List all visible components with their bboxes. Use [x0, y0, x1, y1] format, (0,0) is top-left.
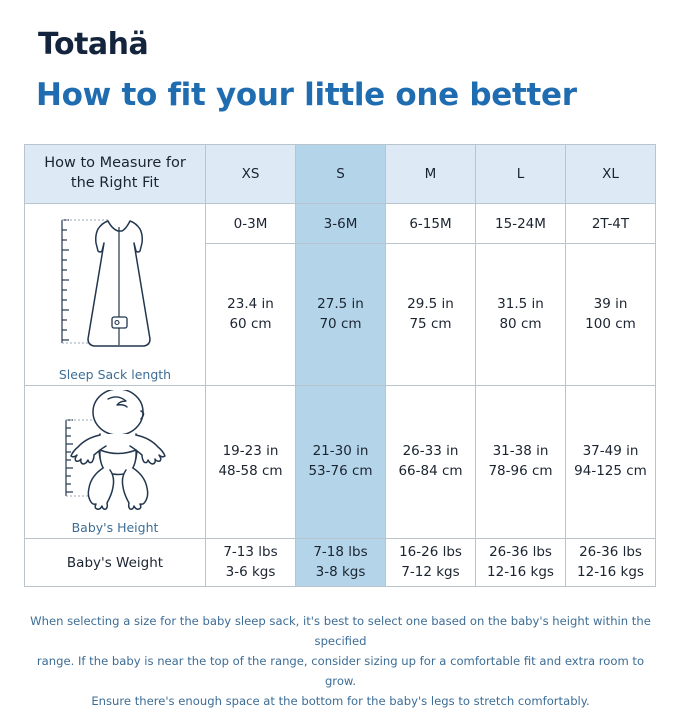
weight-xl-lbs: 26-36 lbs [566, 543, 655, 563]
weight-l: 26-36 lbs 12-16 kgs [476, 539, 566, 587]
size-table-container: How to Measure for the Right Fit XS S M … [24, 144, 655, 587]
height-s-in: 21-30 in [296, 442, 385, 462]
baby-illustration-icon [40, 390, 190, 516]
weight-s: 7-18 lbs 3-8 kgs [296, 539, 386, 587]
sizing-note-line-1: When selecting a size for the baby sleep… [24, 612, 657, 652]
weight-xs-kgs: 3-6 kgs [206, 563, 295, 583]
measure-header-line1: How to Measure for [44, 155, 186, 171]
column-header-xl[interactable]: XL [566, 145, 656, 204]
height-xl-cm: 94-125 cm [566, 462, 655, 482]
height-m-in: 26-33 in [386, 442, 475, 462]
sleep-sack-illustration-icon [40, 207, 190, 363]
sleep-sack-length-label: Sleep Sack length [59, 367, 171, 382]
sleep-sack-cell: Sleep Sack length [25, 204, 206, 386]
weight-m-kgs: 7-12 kgs [386, 563, 475, 583]
babys-height-row: Baby's Height 19-23 in 48-58 cm 21-30 in… [25, 386, 656, 539]
measure-header-line2: the Right Fit [71, 175, 159, 191]
babys-height-label: Baby's Height [72, 520, 159, 535]
height-xs-in: 19-23 in [206, 442, 295, 462]
height-xl-in: 37-49 in [566, 442, 655, 462]
table-header-row: How to Measure for the Right Fit XS S M … [25, 145, 656, 204]
brand-logo: Totahä [38, 30, 148, 60]
height-l-cm: 78-96 cm [476, 462, 565, 482]
length-s: 27.5 in 70 cm [296, 244, 386, 386]
page-title: How to fit your little one better [36, 78, 577, 112]
sizing-note-line-2: range. If the baby is near the top of th… [24, 652, 657, 692]
weight-s-lbs: 7-18 lbs [296, 543, 385, 563]
weight-xs-lbs: 7-13 lbs [206, 543, 295, 563]
height-s: 21-30 in 53-76 cm [296, 386, 386, 539]
weight-m: 16-26 lbs 7-12 kgs [386, 539, 476, 587]
weight-xs: 7-13 lbs 3-6 kgs [206, 539, 296, 587]
column-header-measure: How to Measure for the Right Fit [25, 145, 206, 204]
column-header-m[interactable]: M [386, 145, 476, 204]
sizing-note: When selecting a size for the baby sleep… [24, 612, 657, 712]
age-row: Sleep Sack length 0-3M 3-6M 6-15M 15-24M… [25, 204, 656, 244]
length-s-in: 27.5 in [296, 295, 385, 315]
size-chart-page: Totahä How to fit your little one better… [0, 0, 679, 679]
weight-l-lbs: 26-36 lbs [476, 543, 565, 563]
length-l-cm: 80 cm [476, 315, 565, 335]
sizing-note-line-3: Ensure there's enough space at the botto… [24, 692, 657, 712]
length-m-cm: 75 cm [386, 315, 475, 335]
column-header-s[interactable]: S [296, 145, 386, 204]
column-header-xs[interactable]: XS [206, 145, 296, 204]
size-table: How to Measure for the Right Fit XS S M … [24, 144, 656, 587]
height-xs: 19-23 in 48-58 cm [206, 386, 296, 539]
age-l: 15-24M [476, 204, 566, 244]
length-m-in: 29.5 in [386, 295, 475, 315]
weight-xl-kgs: 12-16 kgs [566, 563, 655, 583]
height-l-in: 31-38 in [476, 442, 565, 462]
weight-xl: 26-36 lbs 12-16 kgs [566, 539, 656, 587]
length-xs-cm: 60 cm [206, 315, 295, 335]
age-xl: 2T-4T [566, 204, 656, 244]
weight-s-kgs: 3-8 kgs [296, 563, 385, 583]
weight-l-kgs: 12-16 kgs [476, 563, 565, 583]
height-s-cm: 53-76 cm [296, 462, 385, 482]
baby-illustration-cell: Baby's Height [25, 386, 206, 539]
height-xs-cm: 48-58 cm [206, 462, 295, 482]
length-s-cm: 70 cm [296, 315, 385, 335]
column-header-l[interactable]: L [476, 145, 566, 204]
height-xl: 37-49 in 94-125 cm [566, 386, 656, 539]
length-xl-cm: 100 cm [566, 315, 655, 335]
length-l-in: 31.5 in [476, 295, 565, 315]
height-m: 26-33 in 66-84 cm [386, 386, 476, 539]
length-xs: 23.4 in 60 cm [206, 244, 296, 386]
length-xs-in: 23.4 in [206, 295, 295, 315]
length-xl-in: 39 in [566, 295, 655, 315]
babys-weight-row: Baby's Weight 7-13 lbs 3-6 kgs 7-18 lbs … [25, 539, 656, 587]
height-l: 31-38 in 78-96 cm [476, 386, 566, 539]
weight-m-lbs: 16-26 lbs [386, 543, 475, 563]
length-l: 31.5 in 80 cm [476, 244, 566, 386]
age-s: 3-6M [296, 204, 386, 244]
age-xs: 0-3M [206, 204, 296, 244]
length-xl: 39 in 100 cm [566, 244, 656, 386]
age-m: 6-15M [386, 204, 476, 244]
length-m: 29.5 in 75 cm [386, 244, 476, 386]
babys-weight-label: Baby's Weight [25, 539, 206, 587]
height-m-cm: 66-84 cm [386, 462, 475, 482]
